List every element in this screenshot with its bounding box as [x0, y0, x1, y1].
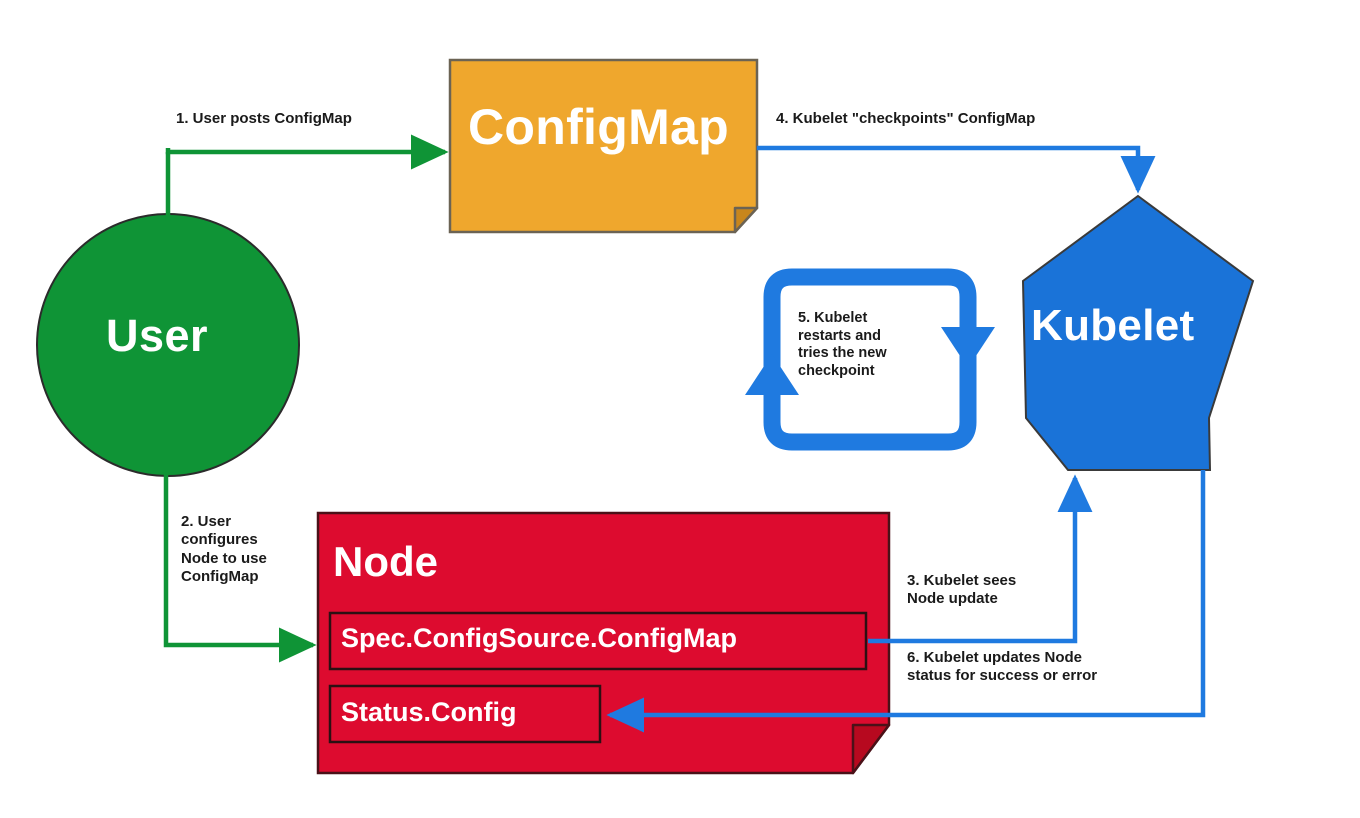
node-configmap-shape[interactable]	[450, 60, 757, 232]
edge-6-label: 6. Kubelet updates Node status for succe…	[907, 649, 1097, 686]
node-kubelet-shape[interactable]	[1023, 196, 1253, 470]
node-node-shape[interactable]	[318, 513, 889, 773]
edge-5-label: 5. Kubelet restarts and tries the new ch…	[798, 310, 887, 381]
edge-2-label: 2. User configures Node to use ConfigMap	[181, 513, 267, 586]
edge-1-label: 1. User posts ConfigMap	[176, 110, 352, 128]
edge-4-connector	[757, 148, 1138, 190]
node-user-shape[interactable]	[37, 214, 299, 476]
edge-3-connector	[868, 478, 1075, 641]
edge-1-connector	[168, 148, 445, 152]
diagram-canvas: User ConfigMap Kubelet Node Spec.ConfigS…	[0, 0, 1360, 818]
edge-4-label: 4. Kubelet "checkpoints" ConfigMap	[776, 110, 1035, 128]
edge-3-label: 3. Kubelet sees Node update	[907, 572, 1016, 609]
